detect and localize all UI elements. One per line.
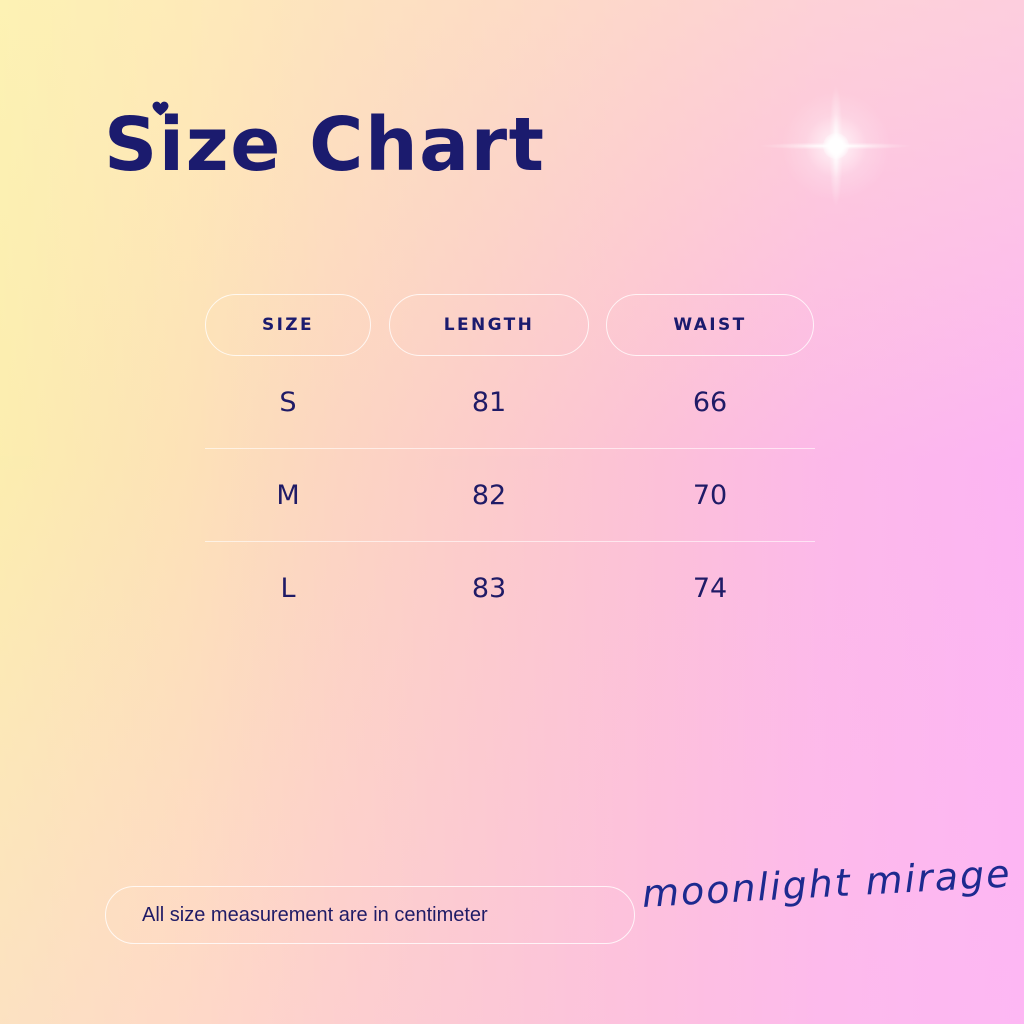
cell-waist: 74 [606,573,814,604]
cell-length: 81 [389,387,589,418]
cell-waist: 70 [606,480,814,511]
size-table: SIZE LENGTH WAIST S 81 66 M 82 70 L 83 7… [205,294,815,634]
sparkle-horizontal-ray [761,143,911,150]
cell-size: S [205,387,371,418]
cell-length: 83 [389,573,589,604]
column-header-waist: WAIST [606,294,814,356]
cell-waist: 66 [606,387,814,418]
brand-signature: moonlight mirage [641,851,1013,916]
sparkle-glow [781,91,891,201]
column-header-length: LENGTH [389,294,589,356]
sparkle-star-icon [760,70,912,222]
table-row: M 82 70 [205,448,815,541]
size-chart-canvas: Size Chart SIZE LENGTH WAIST S 81 66 M 8… [0,0,1024,1024]
table-row: L 83 74 [205,541,815,634]
page-title-text: Size Chart [104,102,545,188]
cell-length: 82 [389,480,589,511]
cell-size: M [205,480,371,511]
sparkle-vertical-ray [829,84,843,208]
cell-size: L [205,573,371,604]
sparkle-core [823,133,849,159]
measurement-note: All size measurement are in centimeter [105,886,635,944]
table-header-row: SIZE LENGTH WAIST [205,294,815,356]
page-title: Size Chart [104,108,545,182]
table-row: S 81 66 [205,356,815,448]
column-header-size: SIZE [205,294,371,356]
